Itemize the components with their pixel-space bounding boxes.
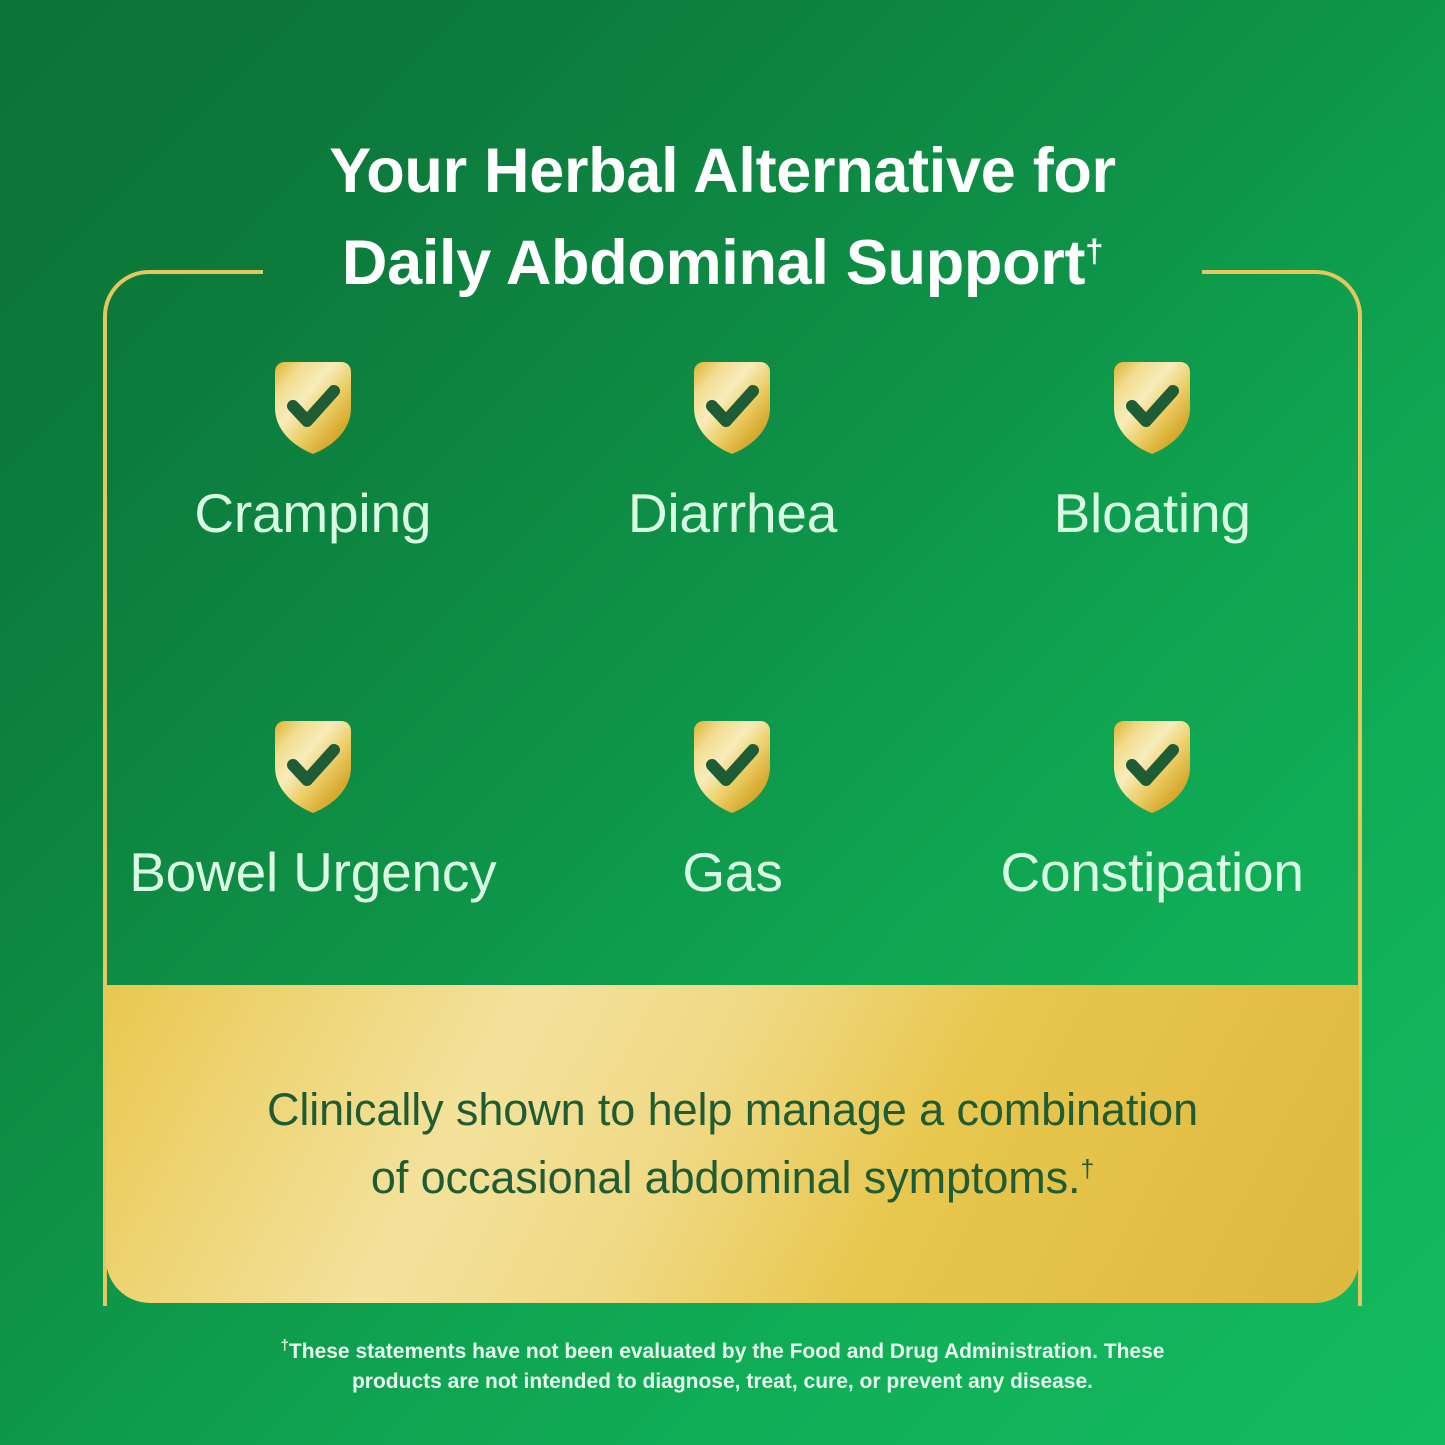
benefit-item: Diarrhea: [523, 358, 943, 541]
benefit-label: Diarrhea: [628, 486, 837, 541]
dagger-symbol: †: [1085, 232, 1103, 269]
benefit-label: Constipation: [1000, 845, 1303, 900]
headline-line-2: Daily Abdominal Support†: [0, 218, 1445, 310]
disclaimer-line-2: products are not intended to diagnose, t…: [352, 1370, 1093, 1393]
dagger-symbol: †: [281, 1337, 289, 1354]
legal-disclaimer: †These statements have not been evaluate…: [0, 1337, 1445, 1397]
claim-line-2: of occasional abdominal symptoms.: [371, 1152, 1081, 1203]
shield-check-icon: [1106, 717, 1198, 815]
promo-poster: Your Herbal Alternative for Daily Abdomi…: [0, 0, 1445, 1445]
benefit-item: Bowel Urgency: [103, 717, 523, 900]
benefit-label: Bloating: [1054, 486, 1251, 541]
benefit-label: Gas: [682, 845, 782, 900]
claim-line-1: Clinically shown to help manage a combin…: [267, 1084, 1198, 1135]
shield-check-icon: [1106, 358, 1198, 456]
shield-check-icon: [686, 717, 778, 815]
benefit-item: Gas: [523, 717, 943, 900]
shield-check-icon: [267, 358, 359, 456]
shield-check-icon: [686, 358, 778, 456]
benefit-label: Bowel Urgency: [129, 845, 496, 900]
claim-banner: Clinically shown to help manage a combin…: [106, 985, 1359, 1303]
benefits-card: Cramping Diarrhea Bloating: [103, 270, 1362, 1306]
headline-line-1: Your Herbal Alternative for: [0, 126, 1445, 218]
claim-banner-text: Clinically shown to help manage a combin…: [207, 1076, 1258, 1213]
page-title: Your Herbal Alternative for Daily Abdomi…: [0, 126, 1445, 310]
headline-line-2-text: Daily Abdominal Support: [342, 228, 1085, 298]
benefits-grid: Cramping Diarrhea Bloating: [103, 270, 1362, 988]
benefit-item: Constipation: [942, 717, 1362, 900]
benefit-label: Cramping: [194, 486, 431, 541]
shield-check-icon: [267, 717, 359, 815]
disclaimer-line-1: These statements have not been evaluated…: [289, 1340, 1165, 1363]
benefit-item: Bloating: [942, 358, 1362, 541]
benefit-item: Cramping: [103, 358, 523, 541]
dagger-symbol: †: [1080, 1156, 1094, 1183]
